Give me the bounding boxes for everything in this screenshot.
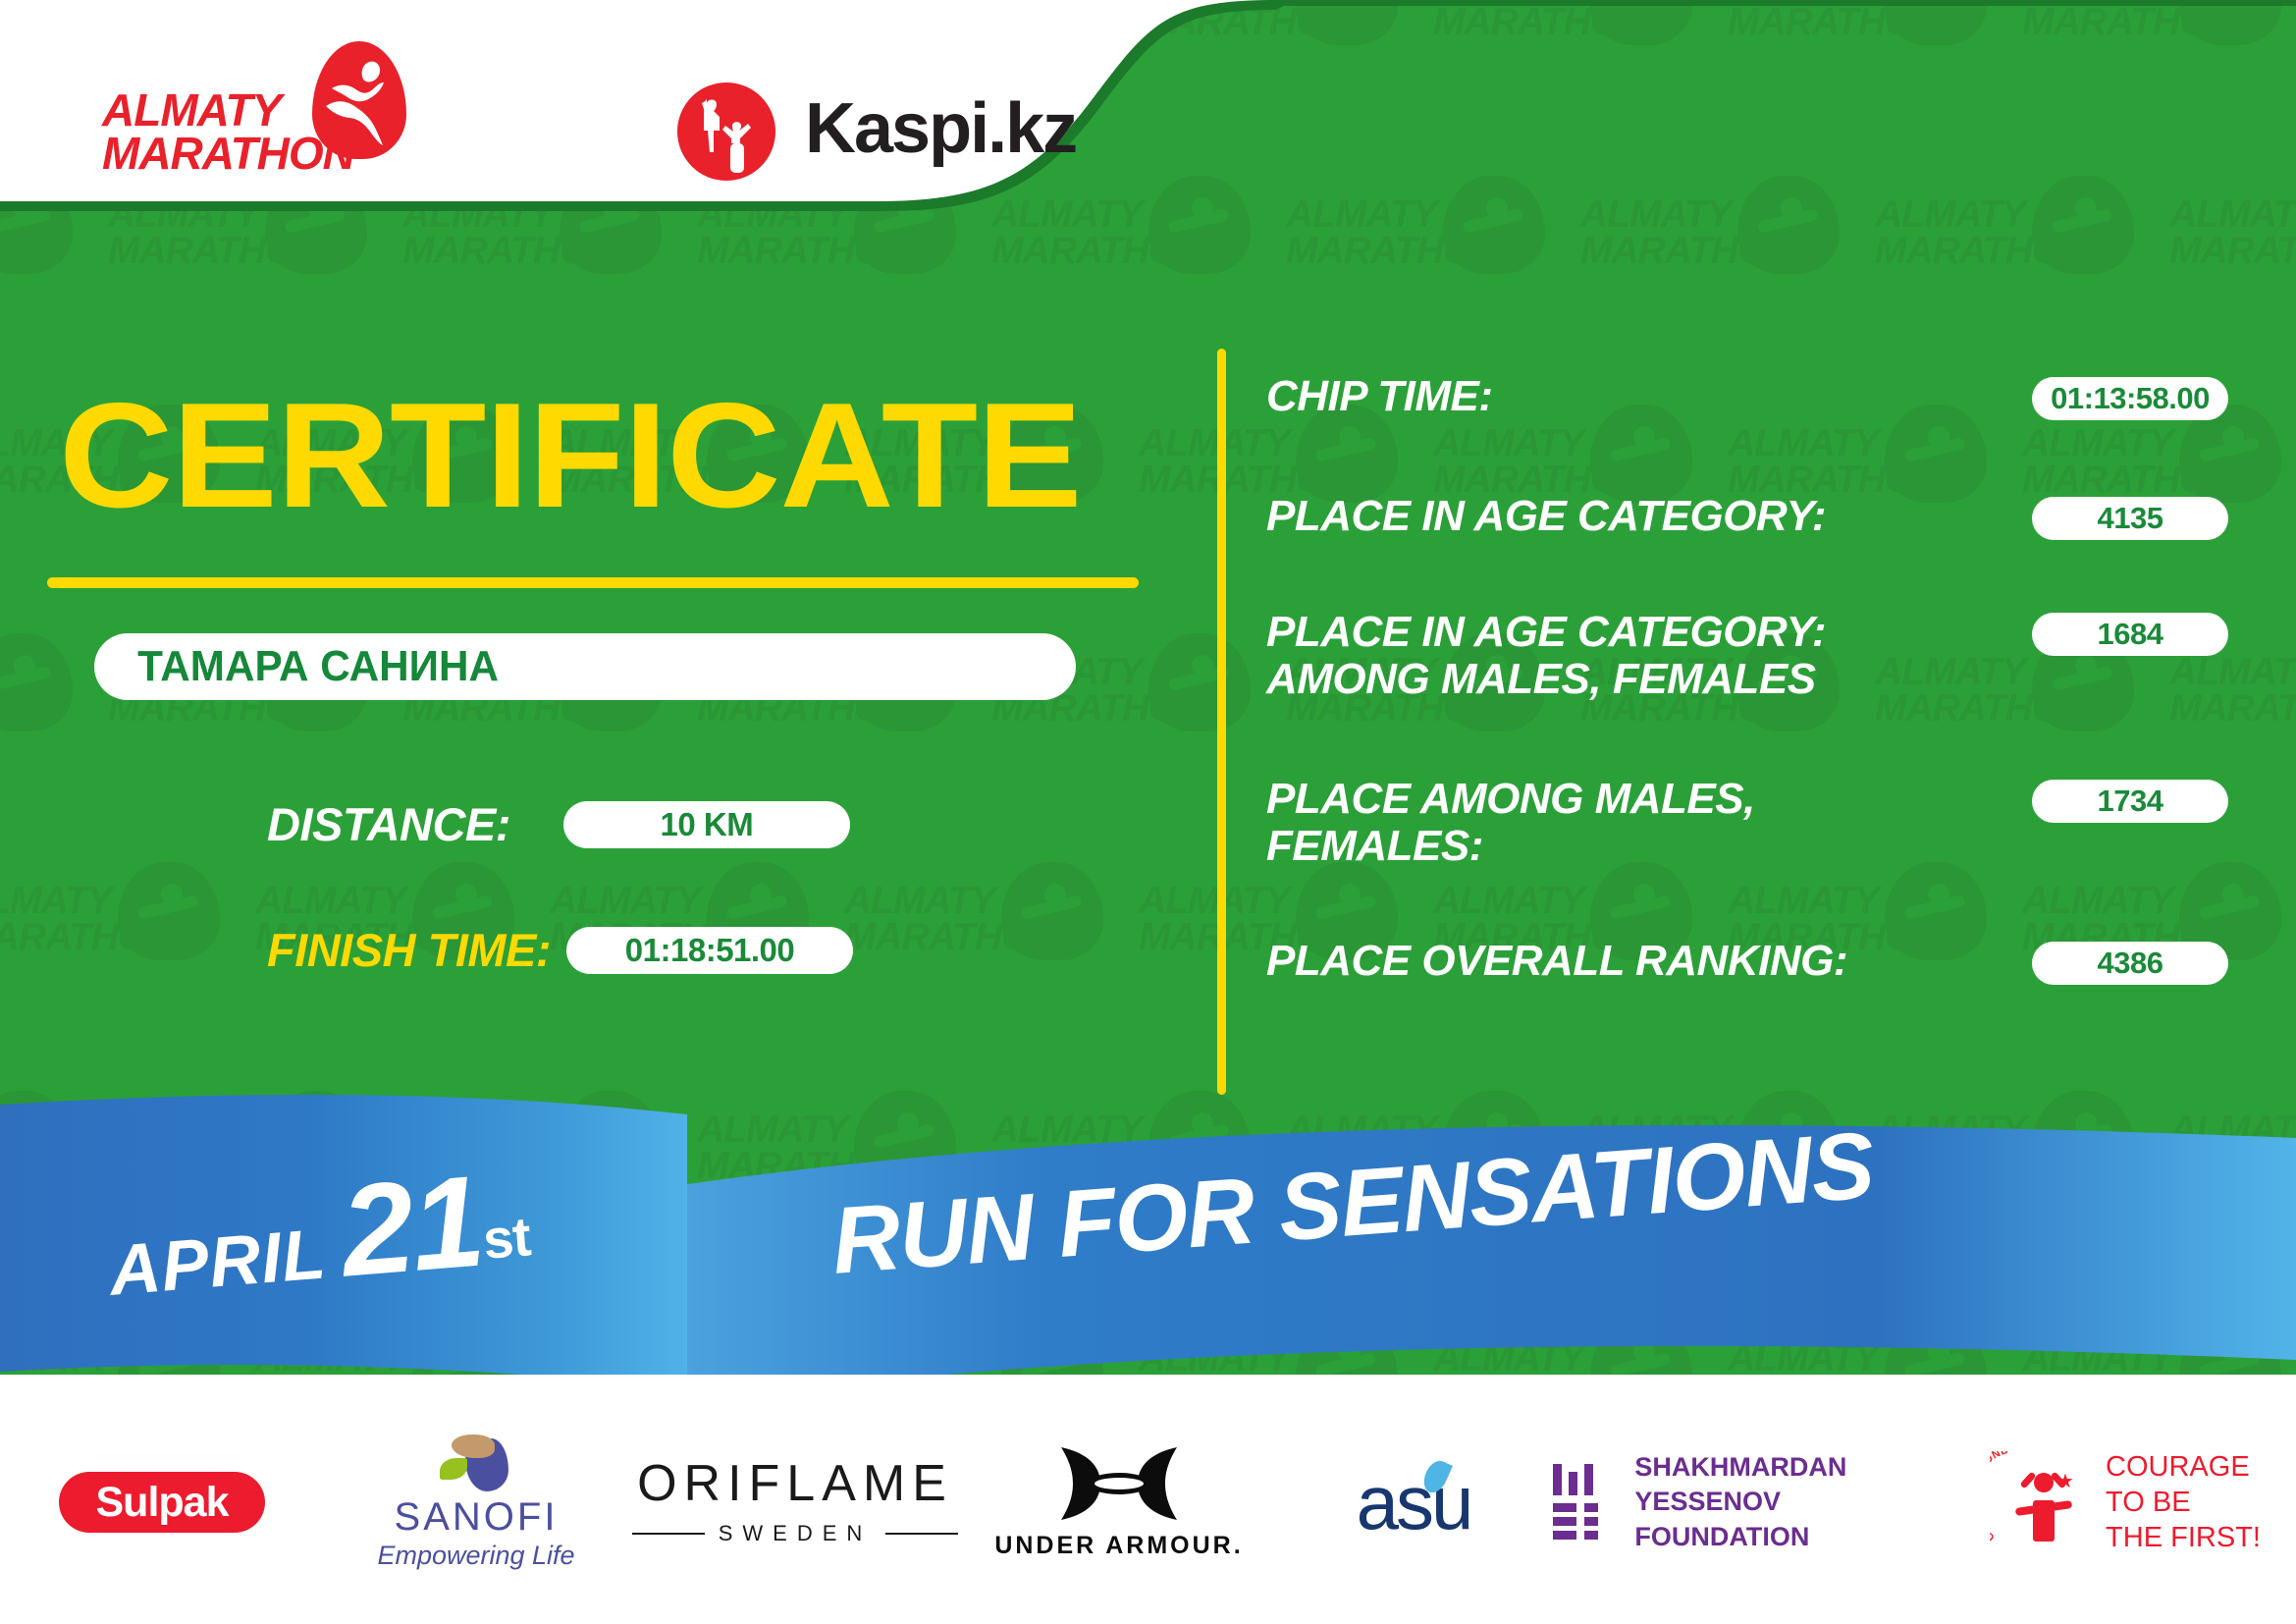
sanofi-wordmark: SANOFI <box>395 1497 559 1537</box>
corporate-fund-wordmark: COURAGE TO BE THE FIRST! <box>2106 1449 2261 1556</box>
sponsor-sanofi: SANOFI Empowering Life <box>324 1414 628 1591</box>
oriflame-tagline-row: SWEDEN <box>632 1521 959 1546</box>
stat-row-chip-time: CHIP TIME: 01:13:58.00 <box>1266 373 2228 420</box>
figure-head <box>2034 1473 2054 1492</box>
watermark-text: ALMATYMARATHON <box>1580 197 1875 269</box>
under-armour-ua-icon <box>1055 1445 1183 1520</box>
watermark-text: ALMATYMARATHON <box>1433 0 1728 40</box>
sponsor-under-armour: UNDER ARMOUR. <box>962 1414 1276 1591</box>
ribbon-month: APRIL <box>107 1215 330 1310</box>
stat-value: 1734 <box>2032 780 2228 823</box>
watermark-text: ALMATYMARATHON <box>1875 197 2169 269</box>
yessenov-wordmark-line2: FOUNDATION <box>1634 1520 1963 1554</box>
distance-value: 10 KM <box>563 801 850 848</box>
watermark-tile: ALMATYMARATHON <box>0 1085 108 1314</box>
watermark-text: ALMATYMARATHON <box>2169 1112 2296 1184</box>
stat-row-place-age-category-among-gender: PLACE IN AGE CATEGORY: AMONG MALES, FEMA… <box>1266 609 2228 702</box>
stat-value: 4386 <box>2032 942 2228 985</box>
watermark-text: ALMATYMARATHON <box>1728 426 2022 498</box>
watermark-text: ALMATYMARATHON <box>0 1112 108 1184</box>
stat-row-place-overall-ranking: PLACE OVERALL RANKING: 4386 <box>1266 938 2228 985</box>
sponsor-logo-strip: Sulpak SANOFI Empowering Life ORIFLAME S… <box>0 1414 2296 1591</box>
column-divider <box>1217 349 1226 1095</box>
sanofi-leaf <box>440 1458 467 1480</box>
finish-time-row: FINISH TIME: 01:18:51.00 <box>267 923 853 977</box>
sponsor-asu: asu <box>1276 1414 1551 1591</box>
distance-row: DISTANCE: 10 KM <box>267 797 850 851</box>
oriflame-wordmark: ORIFLAME <box>637 1458 953 1509</box>
asu-wordmark-wrap: asu <box>1357 1464 1471 1541</box>
stat-label: PLACE AMONG MALES, FEMALES: <box>1266 776 1934 869</box>
corporate-fund-line1: COURAGE <box>2106 1449 2261 1485</box>
two-figures-circle-icon <box>677 82 775 181</box>
finish-time-value: 01:18:51.00 <box>566 927 853 974</box>
sponsor-yessenov-foundation: SHAKHMARDAN YESSENOV FOUNDATION <box>1551 1414 1963 1591</box>
sulpak-badge-icon: Sulpak <box>59 1472 265 1533</box>
stat-value: 1684 <box>2032 613 2228 656</box>
sponsor-sulpak: Sulpak <box>0 1414 324 1591</box>
corporate-fund-line2: TO BE <box>2106 1485 2261 1520</box>
watermark-text: ALMATYMARATHON <box>0 884 255 955</box>
watermark-text: ALMATYMARATHON <box>844 884 1139 955</box>
stat-value: 4135 <box>2032 497 2228 540</box>
watermark-tile: ALMATYMARATHON <box>1433 0 1728 170</box>
certificate-canvas: ALMATYMARATHONALMATYMARATHONALMATYMARATH… <box>0 0 2296 1624</box>
distance-label: DISTANCE: <box>267 797 510 851</box>
yessenov-wordmark: SHAKHMARDAN YESSENOV FOUNDATION <box>1634 1450 1963 1553</box>
kaspi-logo: Kaspi.kz <box>677 81 1090 189</box>
finish-time-label: FINISH TIME: <box>267 923 551 977</box>
oriflame-rule-right <box>885 1533 958 1535</box>
child-figure: ★ <box>2021 1471 2066 1542</box>
watermark-tile: ALMATYMARATHON <box>0 856 255 1085</box>
sulpak-wordmark: Sulpak <box>96 1479 229 1527</box>
stat-row-place-among-gender: PLACE AMONG MALES, FEMALES: 1734 <box>1266 776 2228 869</box>
page-title: CERTIFICATE <box>59 381 1183 530</box>
header-panel: ALMATY MARATHON Kaspi.kz <box>0 0 1394 295</box>
stat-row-place-age-category: PLACE IN AGE CATEGORY: 4135 <box>1266 493 2228 540</box>
watermark-tile: ALMATYMARATHON <box>0 627 108 856</box>
watermark-tile: ALMATYMARATHON <box>2169 170 2296 399</box>
ribbon-day: 21 <box>336 1149 487 1304</box>
almaty-marathon-logo-line2: MARATHON <box>102 132 347 175</box>
watermark-text: ALMATYMARATHON <box>1139 426 1433 498</box>
asu-wordmark: asu <box>1357 1459 1471 1545</box>
stat-label: CHIP TIME: <box>1266 373 1492 420</box>
child-with-ribbon-icon: CORPORATE FUND ★ <box>1990 1451 2092 1553</box>
almaty-marathon-logo-text: ALMATY MARATHON <box>102 88 347 175</box>
yessenov-bars-icon <box>1551 1464 1609 1541</box>
sponsor-corporate-fund: CORPORATE FUND ★ COURAGE TO BE THE FIRST… <box>1963 1414 2287 1591</box>
sponsor-oriflame: ORIFLAME SWEDEN <box>628 1414 962 1591</box>
stat-label: PLACE IN AGE CATEGORY: <box>1266 493 1826 540</box>
stat-value: 01:13:58.00 <box>2032 377 2228 420</box>
watermark-tile: ALMATYMARATHON <box>844 856 1139 1085</box>
watermark-text: ALMATYMARATHON <box>2169 197 2296 269</box>
yessenov-wordmark-line1: SHAKHMARDAN YESSENOV <box>1634 1450 1963 1519</box>
watermark-tile: ALMATYMARATHON <box>2169 1085 2296 1314</box>
svg-text:CORPORATE FUND: CORPORATE FUND <box>1990 1451 2010 1543</box>
corporate-fund-line3: THE FIRST! <box>2106 1520 2261 1555</box>
watermark-tile: ALMATYMARATHON <box>1875 170 2169 399</box>
title-underline-rule <box>47 577 1139 588</box>
participant-name-value: ТАМАРА САНИНА <box>94 642 499 691</box>
almaty-marathon-logo-line1: ALMATY <box>102 88 347 132</box>
sanofi-tagline: Empowering Life <box>377 1541 574 1571</box>
watermark-text: ALMATYMARATHON <box>697 1112 991 1184</box>
watermark-text: ALMATYMARATHON <box>1433 426 1728 498</box>
watermark-tile: ALMATYMARATHON <box>1728 0 2022 170</box>
sanofi-bird-head <box>452 1435 495 1458</box>
participant-name-field: ТАМАРА САНИНА <box>94 633 1076 700</box>
stat-label: PLACE IN AGE CATEGORY: AMONG MALES, FEMA… <box>1266 609 1934 702</box>
watermark-text: ALMATYMARATHON <box>1875 1112 2169 1184</box>
ribbon-day-suffix: st <box>481 1205 533 1271</box>
stat-label: PLACE OVERALL RANKING: <box>1266 938 1847 985</box>
sanofi-bird-icon <box>438 1435 514 1493</box>
kaspi-wordmark: Kaspi.kz <box>805 88 1076 169</box>
watermark-text: ALMATYMARATHON <box>1728 0 2022 40</box>
watermark-text: ALMATYMARATHON <box>2022 426 2296 498</box>
almaty-marathon-logo: ALMATY MARATHON <box>102 39 426 177</box>
watermark-text: ALMATYMARATHON <box>2022 0 2296 40</box>
oriflame-rule-left <box>632 1533 705 1535</box>
watermark-tile: ALMATYMARATHON <box>1580 170 1875 399</box>
watermark-tile: ALMATYMARATHON <box>2022 0 2296 170</box>
watermark-text: ALMATYMARATHON <box>0 655 108 727</box>
under-armour-wordmark: UNDER ARMOUR. <box>994 1532 1243 1560</box>
watermark-tile: ALMATYMARATHON <box>1875 1085 2169 1314</box>
oriflame-tagline: SWEDEN <box>719 1521 873 1546</box>
